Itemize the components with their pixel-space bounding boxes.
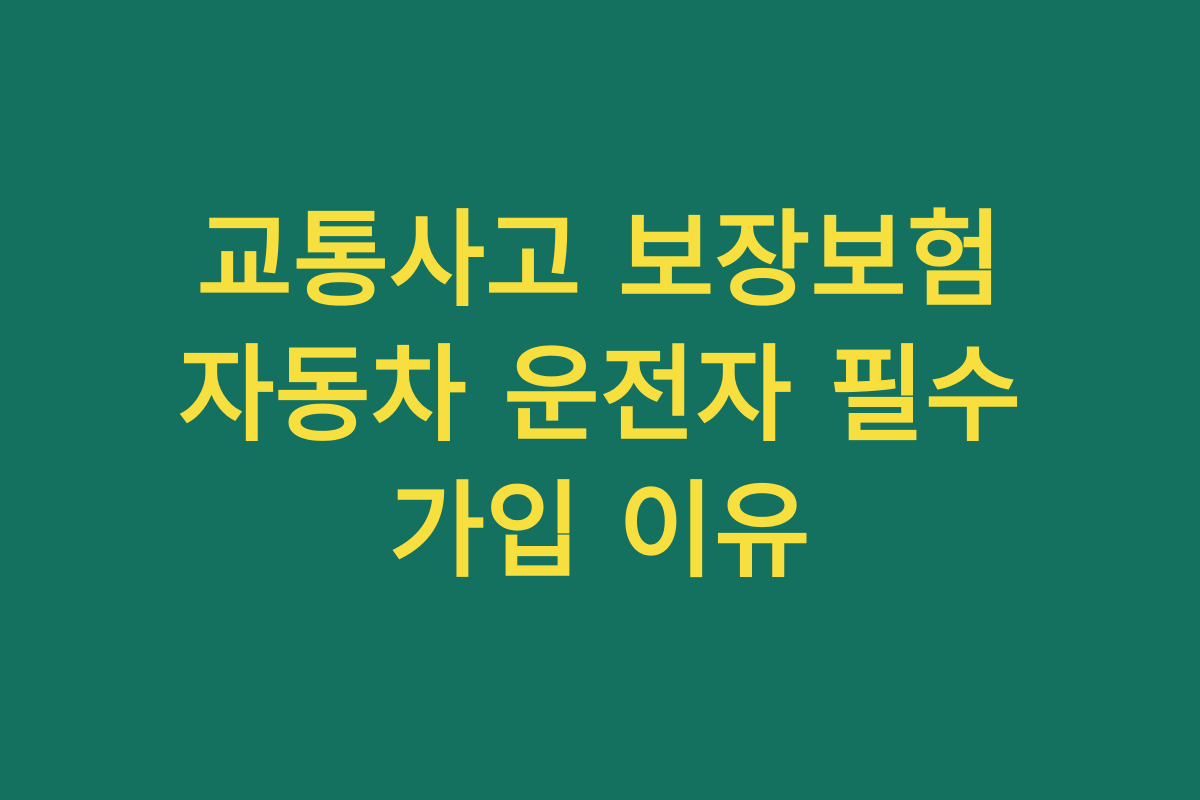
page-title: 교통사고 보장보험 자동차 운전자 필수 가입 이유 xyxy=(80,193,1120,599)
text-banner: 교통사고 보장보험 자동차 운전자 필수 가입 이유 xyxy=(0,0,1200,800)
headline-container: 교통사고 보장보험 자동차 운전자 필수 가입 이유 xyxy=(80,193,1120,599)
